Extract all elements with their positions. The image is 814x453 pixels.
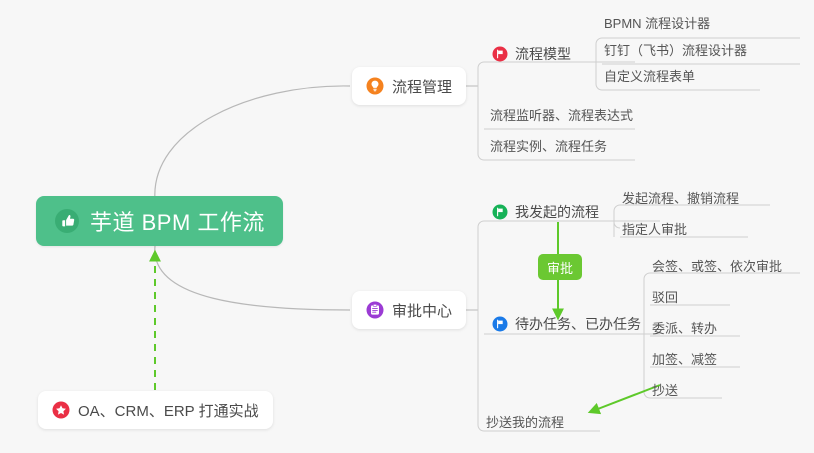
leaf-label-cc-to-me: 抄送我的流程 bbox=[486, 412, 564, 431]
leaf-label-custom-form: 自定义流程表单 bbox=[604, 66, 695, 85]
leaf-node-delegate-transfer[interactable]: 委派、转办 bbox=[652, 316, 717, 338]
leaf-label-countersign: 会签、或签、依次审批 bbox=[652, 256, 782, 275]
edge-spine-process-model bbox=[596, 38, 602, 90]
leaf-node-bpmn-designer[interactable]: BPMN 流程设计器 bbox=[604, 11, 710, 33]
flag-icon bbox=[492, 46, 508, 62]
leaf-label-process-listener: 流程监听器、流程表达式 bbox=[490, 105, 633, 124]
arrow-cc-to-cc-to-me bbox=[590, 385, 660, 412]
leaf-node-add-remove-sign[interactable]: 加签、减签 bbox=[652, 347, 717, 369]
flag-icon bbox=[492, 204, 508, 220]
edge-spine-my-started bbox=[614, 205, 620, 228]
leaf-label-add-remove-sign: 加签、减签 bbox=[652, 349, 717, 368]
leaf-node-custom-form[interactable]: 自定义流程表单 bbox=[604, 64, 695, 86]
branch-node-process-management[interactable]: 流程管理 bbox=[352, 67, 466, 105]
floating-node-integration[interactable]: OA、CRM、ERP 打通实战 bbox=[38, 391, 273, 429]
leaf-node-cc-to-me[interactable]: 抄送我的流程 bbox=[486, 410, 564, 432]
subbranch-node-todo-done-tasks[interactable]: 待办任务、已办任务 bbox=[492, 312, 641, 336]
clipboard-icon bbox=[366, 301, 384, 319]
leaf-node-countersign[interactable]: 会签、或签、依次审批 bbox=[652, 254, 782, 276]
leaf-label-process-instance: 流程实例、流程任务 bbox=[490, 136, 607, 155]
floating-node-label: OA、CRM、ERP 打通实战 bbox=[78, 400, 259, 421]
lightbulb-icon bbox=[366, 77, 384, 95]
branch-node-approval-center[interactable]: 审批中心 bbox=[352, 291, 466, 329]
leaf-node-assignee-approve[interactable]: 指定人审批 bbox=[622, 217, 687, 239]
subbranch-node-process-model[interactable]: 流程模型 bbox=[492, 42, 571, 66]
leaf-node-start-cancel-process[interactable]: 发起流程、撤销流程 bbox=[622, 186, 739, 208]
edge-spine-approval-center bbox=[478, 221, 484, 431]
root-node[interactable]: 芋道 BPM 工作流 bbox=[36, 196, 283, 246]
leaf-label-cc: 抄送 bbox=[652, 380, 678, 399]
leaf-node-process-instance[interactable]: 流程实例、流程任务 bbox=[490, 134, 607, 156]
subbranch-node-my-started-processes[interactable]: 我发起的流程 bbox=[492, 200, 599, 224]
branch-label-process-management: 流程管理 bbox=[392, 76, 452, 97]
subbranch-label-my-started-processes: 我发起的流程 bbox=[515, 202, 599, 222]
leaf-label-delegate-transfer: 委派、转办 bbox=[652, 318, 717, 337]
leaf-label-bpmn-designer: BPMN 流程设计器 bbox=[604, 13, 710, 32]
leaf-label-dingtalk-designer: 钉钉（飞书）流程设计器 bbox=[604, 40, 747, 59]
root-label: 芋道 BPM 工作流 bbox=[90, 205, 265, 237]
subbranch-label-todo-done-tasks: 待办任务、已办任务 bbox=[515, 314, 641, 334]
leaf-node-dingtalk-designer[interactable]: 钉钉（飞书）流程设计器 bbox=[604, 38, 747, 60]
mindmap-canvas: 芋道 BPM 工作流 流程管理 流程模型 BPMN 流程设计器 钉钉（飞书）流程 bbox=[0, 0, 814, 453]
branch-label-approval-center: 审批中心 bbox=[392, 300, 452, 321]
leaf-node-reject[interactable]: 驳回 bbox=[652, 285, 678, 307]
leaf-node-cc[interactable]: 抄送 bbox=[652, 378, 678, 400]
annotation-chip-label: 审批 bbox=[547, 258, 573, 277]
edge-spine-todo-done bbox=[644, 273, 650, 398]
edge-spine-process-management bbox=[478, 62, 484, 160]
subbranch-label-process-model: 流程模型 bbox=[515, 44, 571, 64]
leaf-label-reject: 驳回 bbox=[652, 287, 678, 306]
edge-root-to-approval-center bbox=[155, 246, 350, 310]
star-icon bbox=[52, 401, 70, 419]
leaf-node-process-listener[interactable]: 流程监听器、流程表达式 bbox=[490, 103, 633, 125]
flag-icon bbox=[492, 316, 508, 332]
annotation-chip-approval[interactable]: 审批 bbox=[538, 254, 582, 280]
leaf-label-assignee-approve: 指定人审批 bbox=[622, 219, 687, 238]
leaf-label-start-cancel-process: 发起流程、撤销流程 bbox=[622, 188, 739, 207]
edge-root-to-process-management bbox=[155, 86, 350, 200]
thumbs-up-icon bbox=[54, 208, 80, 234]
